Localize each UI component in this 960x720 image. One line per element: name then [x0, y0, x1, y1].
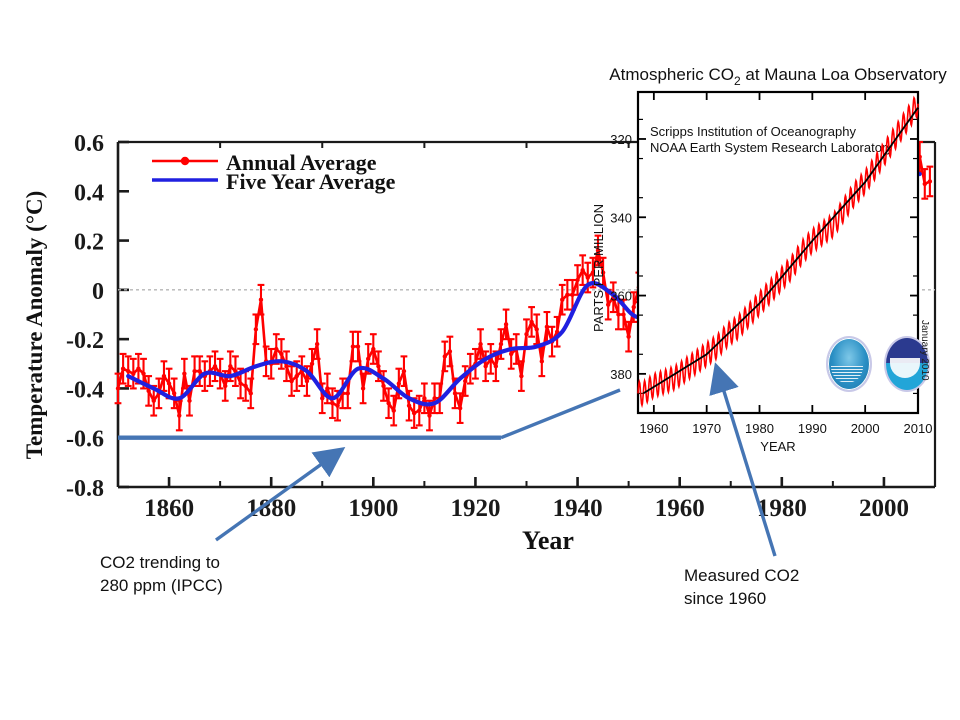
annotation-measured-co2: Measured CO2 since 1960 [684, 565, 799, 611]
baseline-to-inset-connector [501, 390, 620, 438]
arrow-co2-trending [216, 453, 337, 540]
annotation-arrows [0, 0, 960, 720]
scripps-logo [826, 336, 872, 392]
arrow-measured-co2 [718, 372, 775, 556]
inset-date-stamp: January 2010 [919, 320, 930, 381]
annotation-co2-trending: CO2 trending to 280 ppm (IPCC) [100, 552, 223, 598]
